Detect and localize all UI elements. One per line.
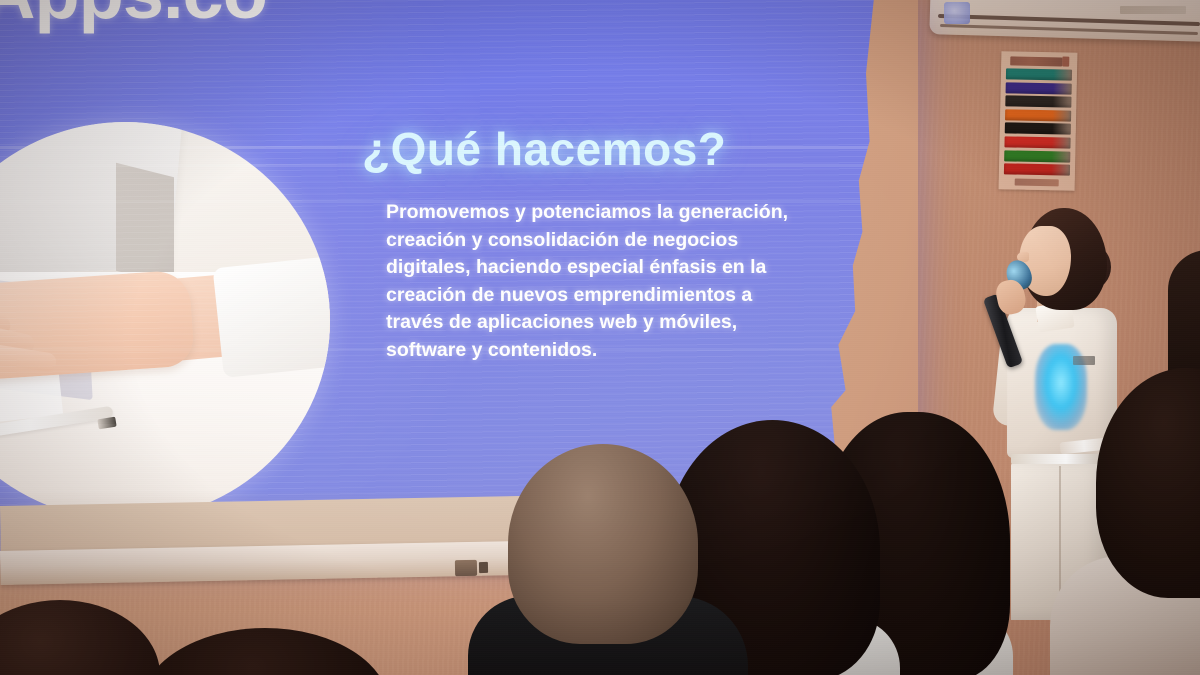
- photo-sleeve-cuff: [213, 256, 330, 378]
- poster-bar-1: [1006, 68, 1072, 80]
- photo-laptop-edge: [116, 163, 174, 285]
- poster-bar-8: [1004, 163, 1070, 175]
- slide-circular-photo: [0, 122, 330, 520]
- ledge-clip-secondary: [479, 562, 488, 573]
- poster-icon: [1062, 56, 1069, 66]
- projector-scanband-1: [0, 146, 918, 149]
- slide-body-line: creación y consolidación de negocios: [386, 227, 856, 255]
- slide-body-line: digitales, haciendo especial énfasis en …: [386, 254, 856, 282]
- poster-bar-6: [1004, 136, 1070, 148]
- presenter-shirt-logo: [1073, 356, 1095, 365]
- air-conditioner-label: [1120, 6, 1186, 14]
- wall-poster: [999, 51, 1078, 191]
- projector-scanband-3: [0, 200, 918, 203]
- poster-title: [1010, 56, 1062, 66]
- projector-scanband-2: [0, 164, 918, 167]
- air-conditioner-display: [944, 2, 970, 24]
- projector-scanband-4: [0, 348, 918, 351]
- ledge-clip: [455, 560, 477, 576]
- poster-footer: [1015, 179, 1059, 187]
- slide-body-line: través de aplicaciones web y móviles,: [386, 309, 856, 337]
- slide-brand-logo: Apps.co: [0, 0, 267, 35]
- slide-body-text: Promovemos y potenciamos la generación,c…: [386, 199, 856, 364]
- screenshot-stage: Apps.co ¿Qué hacemos? Promovemos y poten…: [0, 0, 1200, 675]
- poster-bar-5: [1005, 123, 1071, 135]
- audience-bald-man-head: [508, 444, 698, 644]
- slide-title: ¿Qué hacemos?: [362, 122, 726, 176]
- poster-bar-4: [1005, 109, 1071, 121]
- poster-bar-2: [1006, 82, 1072, 94]
- poster-bars: [1004, 68, 1072, 176]
- slide-body-line: creación de nuevos emprendimientos a: [386, 282, 856, 310]
- poster-bar-3: [1005, 96, 1071, 108]
- poster-bar-7: [1004, 150, 1070, 162]
- slide-body-line: Promovemos y potenciamos la generación,: [386, 199, 856, 227]
- presenter-belt: [1011, 454, 1111, 464]
